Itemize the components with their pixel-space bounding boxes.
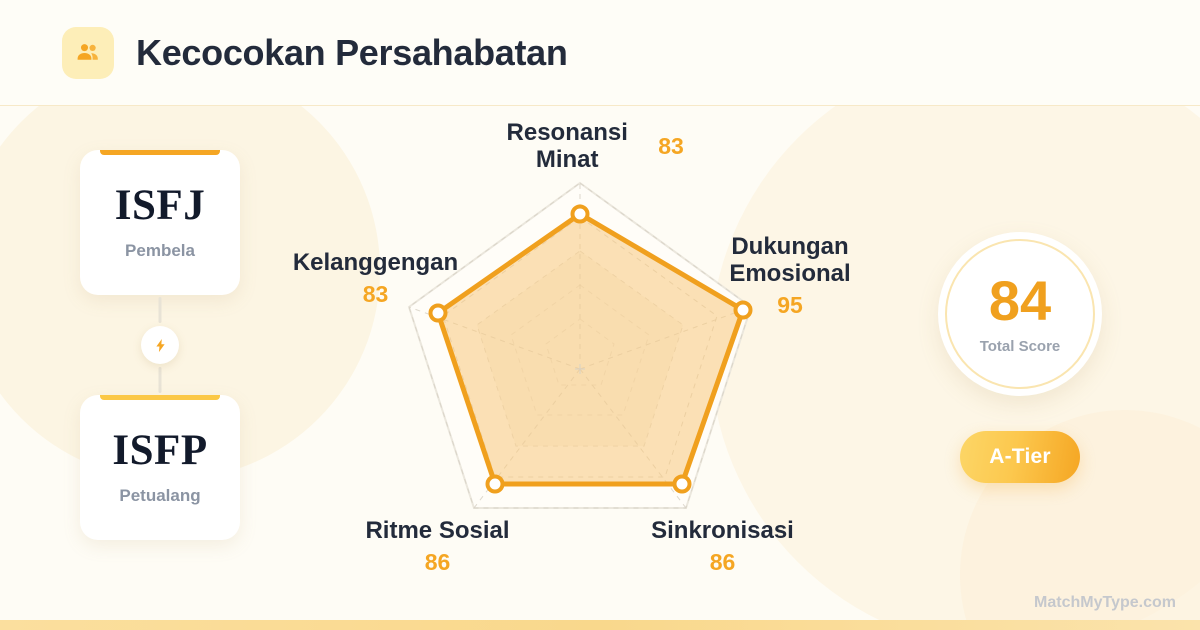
axis-label-dukungan-emosional: Dukungan Emosional 95 <box>700 234 880 319</box>
header-bar: Kecocokan Persahabatan <box>0 0 1200 106</box>
axis-value-sinkronisasi: 86 <box>620 550 825 576</box>
personality-pair: ISFJ Pembela ISFP Petualang <box>80 150 240 540</box>
people-group-icon <box>62 27 114 79</box>
type-card-first[interactable]: ISFJ Pembela <box>80 150 240 295</box>
radar-point-ritme-sosial <box>488 477 503 492</box>
axis-label-resonansi-minat: Resonansi Minat83 <box>468 120 698 174</box>
type-code-first: ISFJ <box>115 184 205 227</box>
axis-label-dukungan-emosional-text: Dukungan Emosional <box>700 234 880 288</box>
axis-label-ritme-sosial: Ritme Sosial 86 <box>330 518 545 576</box>
axis-label-ritme-sosial-text: Ritme Sosial <box>330 518 545 545</box>
lightning-bolt-icon <box>141 326 179 364</box>
axis-label-kelanggengan: Kelanggengan 83 <box>258 250 493 308</box>
total-score-caption: Total Score <box>980 338 1061 355</box>
total-score-badge: 84 Total Score <box>938 232 1102 396</box>
footer-accent-bar <box>0 620 1200 630</box>
page-title: Kecocokan Persahabatan <box>136 32 568 74</box>
type-code-second: ISFP <box>112 429 207 472</box>
axis-label-resonansi-minat-text: Resonansi Minat <box>482 120 652 174</box>
axis-value-dukungan-emosional: 95 <box>700 293 880 319</box>
radar-point-sinkronisasi <box>675 477 690 492</box>
type-name-first: Pembela <box>125 241 195 261</box>
connector-dash-top <box>159 297 162 323</box>
axis-label-sinkronisasi: Sinkronisasi 86 <box>620 518 825 576</box>
tier-badge: A-Tier <box>960 431 1080 483</box>
type-name-second: Petualang <box>119 486 200 506</box>
pair-connector <box>80 295 240 395</box>
radar-point-resonansi-minat <box>573 207 588 222</box>
axis-value-ritme-sosial: 86 <box>330 550 545 576</box>
axis-value-kelanggengan: 83 <box>258 282 493 308</box>
axis-label-sinkronisasi-text: Sinkronisasi <box>620 518 825 545</box>
total-score-value: 84 <box>989 273 1051 329</box>
type-card-second[interactable]: ISFP Petualang <box>80 395 240 540</box>
watermark: MatchMyType.com <box>1034 594 1176 612</box>
axis-value-resonansi-minat: 83 <box>658 134 684 160</box>
tier-label: A-Tier <box>989 445 1051 469</box>
axis-label-kelanggengan-text: Kelanggengan <box>258 250 493 277</box>
radar-point-kelanggengan <box>431 306 446 321</box>
connector-dash-bottom <box>159 367 162 393</box>
